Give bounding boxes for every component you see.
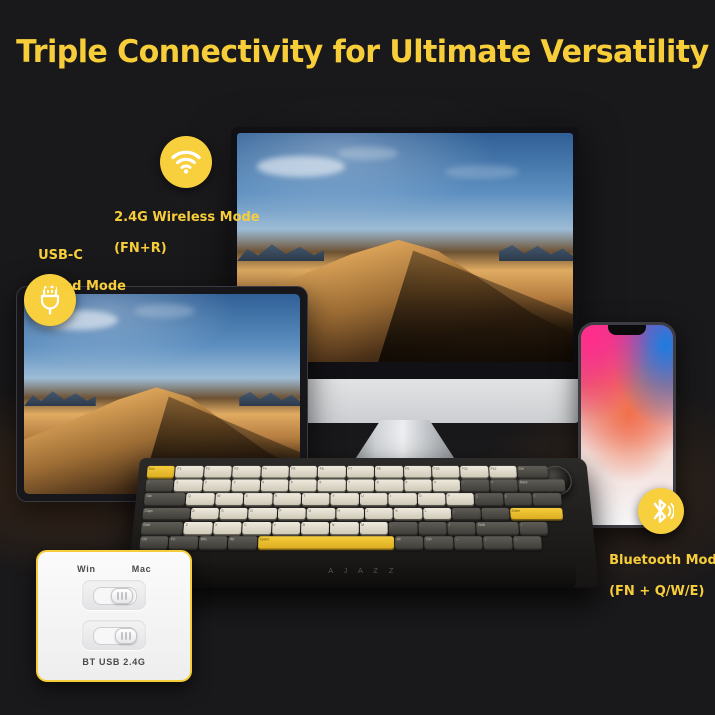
key-f[interactable]: F <box>278 508 306 520</box>
mountain-right <box>239 388 300 406</box>
key-[interactable]: ; <box>452 508 481 520</box>
page-title: Triple Connectivity for Ultimate Versati… <box>16 34 699 70</box>
wifi-icon <box>160 136 212 188</box>
key-alt[interactable]: Alt <box>228 536 257 548</box>
key-4[interactable]: 4 <box>260 480 288 492</box>
key-ctrl[interactable]: Ctrl <box>424 536 453 548</box>
key-alt[interactable]: Alt <box>395 536 424 548</box>
key-x[interactable]: X <box>213 522 242 534</box>
key-f3[interactable]: F3 <box>232 466 260 477</box>
key-y[interactable]: Y <box>331 493 359 505</box>
key-[interactable]: ↑ <box>519 522 548 534</box>
key-back[interactable]: Back <box>518 480 565 492</box>
key-g[interactable]: G <box>307 508 335 520</box>
wireless-mode-line1: 2.4G Wireless Mode <box>114 210 260 225</box>
wired-mode-label: USB-C Wired Mode <box>20 232 126 310</box>
key-5[interactable]: 5 <box>289 480 317 492</box>
key-f11[interactable]: F11 <box>460 466 488 477</box>
key-[interactable]: \ <box>533 493 562 505</box>
key-k[interactable]: K <box>394 508 422 520</box>
key-8[interactable]: 8 <box>375 480 403 492</box>
phone-notch <box>608 325 646 335</box>
key-[interactable]: - <box>461 480 489 492</box>
os-mode-switch[interactable] <box>82 580 146 610</box>
key-e[interactable]: E <box>244 493 272 505</box>
bluetooth-mode-label: Bluetooth Mode (FN + Q/W/E) <box>591 537 715 615</box>
key-s[interactable]: S <box>219 508 248 520</box>
connection-switch-label: BT USB 2.4G <box>38 657 190 667</box>
key-[interactable]: . <box>418 522 447 534</box>
connection-mode-switch[interactable] <box>82 620 146 650</box>
key-0[interactable]: 0 <box>433 480 461 492</box>
key-[interactable]: ~ <box>145 480 174 492</box>
key-r[interactable]: R <box>273 493 301 505</box>
wired-mode-line2: Wired Mode <box>38 279 126 294</box>
bluetooth-mode-line1: Bluetooth Mode <box>609 553 715 568</box>
os-switch-label-mac: Mac <box>116 564 168 574</box>
key-9[interactable]: 9 <box>404 480 432 492</box>
mode-switch-closeup: Win Mac BT USB 2.4G <box>36 550 192 682</box>
key-w[interactable]: W <box>215 493 244 505</box>
key-a[interactable]: A <box>190 508 219 520</box>
key-f12[interactable]: F12 <box>489 466 517 477</box>
key-6[interactable]: 6 <box>318 480 346 492</box>
key-esc[interactable]: Esc <box>147 466 176 477</box>
key-v[interactable]: V <box>272 522 301 534</box>
key-[interactable]: / <box>447 522 476 534</box>
key-z[interactable]: Z <box>184 522 213 534</box>
key-space[interactable]: Space <box>258 536 395 548</box>
key-j[interactable]: J <box>365 508 393 520</box>
key-l[interactable]: L <box>423 508 451 520</box>
key-3[interactable]: 3 <box>232 480 260 492</box>
mountain-right <box>499 241 573 262</box>
key-c[interactable]: C <box>242 522 271 534</box>
key-[interactable]: = <box>490 480 518 492</box>
key-i[interactable]: I <box>389 493 417 505</box>
key-f7[interactable]: F7 <box>347 466 375 477</box>
key-f8[interactable]: F8 <box>375 466 403 477</box>
key-2[interactable]: 2 <box>203 480 231 492</box>
bluetooth-mode-line2: (FN + Q/W/E) <box>609 584 704 599</box>
bluetooth-icon <box>638 488 684 534</box>
key-fn[interactable]: Fn <box>169 536 198 548</box>
key-f4[interactable]: F4 <box>261 466 289 477</box>
key-p[interactable]: P <box>446 493 474 505</box>
key-1[interactable]: 1 <box>174 480 203 492</box>
key-shift[interactable]: Shift <box>141 522 184 534</box>
key-[interactable]: [ <box>475 493 504 505</box>
mechanical-keyboard: EscF1F2F3F4F5F6F7F8F9F10F11F12Del~123456… <box>140 458 586 586</box>
key-win[interactable]: Win <box>198 536 227 548</box>
key-[interactable]: , <box>389 522 417 534</box>
os-switch-labels: Win Mac <box>38 564 190 574</box>
key-f10[interactable]: F10 <box>432 466 460 477</box>
brand-logo: A J A Z Z <box>140 566 586 575</box>
key-caps[interactable]: Caps <box>142 508 190 520</box>
key-[interactable]: ← <box>454 536 483 548</box>
key-[interactable]: ↓ <box>483 536 512 548</box>
key-[interactable]: ' <box>481 508 510 520</box>
keycap-field: EscF1F2F3F4F5F6F7F8F9F10F11F12Del~123456… <box>138 464 588 562</box>
key-ctrl[interactable]: Ctrl <box>139 536 169 548</box>
os-switch-thumb[interactable] <box>111 588 133 604</box>
key-shift[interactable]: Shift <box>476 522 518 534</box>
key-f9[interactable]: F9 <box>404 466 432 477</box>
key-[interactable]: ] <box>504 493 533 505</box>
key-o[interactable]: O <box>417 493 445 505</box>
os-switch-label-win: Win <box>60 564 112 574</box>
mountain-left <box>24 388 96 406</box>
key-[interactable]: → <box>513 536 542 548</box>
key-enter[interactable]: Enter <box>510 508 563 520</box>
key-u[interactable]: U <box>360 493 388 505</box>
wired-mode-line1: USB-C <box>38 248 83 263</box>
key-7[interactable]: 7 <box>347 480 375 492</box>
key-h[interactable]: H <box>336 508 364 520</box>
key-d[interactable]: D <box>248 508 277 520</box>
key-m[interactable]: M <box>360 522 388 534</box>
key-b[interactable]: B <box>301 522 329 534</box>
key-n[interactable]: N <box>330 522 358 534</box>
key-del[interactable]: Del <box>517 466 548 477</box>
key-f6[interactable]: F6 <box>318 466 346 477</box>
key-t[interactable]: T <box>302 493 330 505</box>
key-f1[interactable]: F1 <box>175 466 203 477</box>
connection-switch-thumb[interactable] <box>115 628 137 644</box>
key-q[interactable]: Q <box>186 493 215 505</box>
key-f5[interactable]: F5 <box>290 466 318 477</box>
key-f2[interactable]: F2 <box>204 466 232 477</box>
promo-image: Triple Connectivity for Ultimate Versati… <box>0 0 715 715</box>
key-tab[interactable]: Tab <box>144 493 186 505</box>
